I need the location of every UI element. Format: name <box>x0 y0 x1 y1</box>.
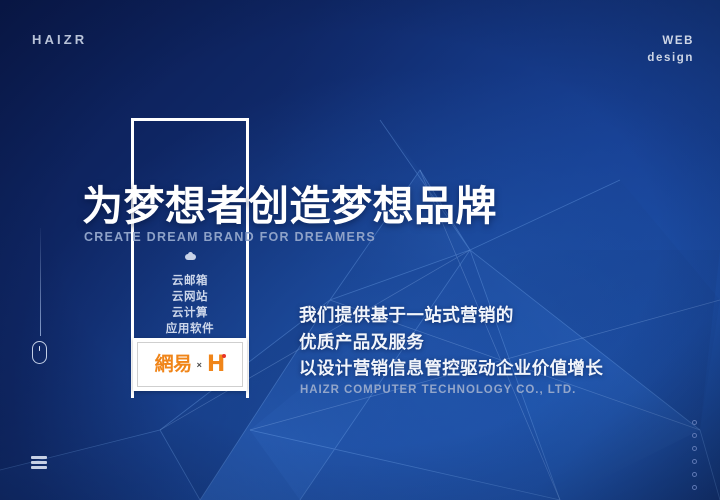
low-poly-background <box>0 0 720 500</box>
menu-item-cloud-computing[interactable]: 云计算 <box>140 304 240 320</box>
pagination-dot[interactable] <box>692 420 697 425</box>
red-dot-icon <box>222 354 226 358</box>
body-line-2: 优质产品及服务 <box>299 330 603 357</box>
haizr-mark: H <box>207 354 225 376</box>
hamburger-menu-icon[interactable] <box>31 456 47 469</box>
pagination-dot[interactable] <box>692 459 697 464</box>
pagination-dot[interactable] <box>692 446 697 451</box>
mouse-scroll-icon[interactable] <box>32 341 47 364</box>
frame-top-bar <box>131 118 249 121</box>
web-design-label: WEB design <box>647 33 694 66</box>
body-line-1: 我们提供基于一站式营销的 <box>299 303 603 330</box>
body-line-3: 以设计营销信息管控驱动企业价值增长 <box>299 356 603 383</box>
company-name-en: HAIZR COMPUTER TECHNOLOGY CO., LTD. <box>300 384 576 396</box>
web-design-line1: WEB <box>647 33 694 50</box>
page-subtitle: CREATE DREAM BRAND FOR DREAMERS <box>84 230 376 244</box>
hamburger-bar <box>31 461 47 464</box>
web-design-line2: design <box>647 50 694 67</box>
service-menu: 云邮箱 云网站 云计算 应用软件 <box>140 252 240 336</box>
menu-item-cloud-website[interactable]: 云网站 <box>140 288 240 304</box>
hero-slide: HAIZR WEB design 为梦想者创造梦想品牌 CREATE DREAM… <box>0 0 720 500</box>
page-title: 为梦想者创造梦想品牌 <box>82 186 497 227</box>
scroll-rail-line <box>40 228 41 336</box>
hamburger-bar <box>31 466 47 469</box>
site-logo[interactable]: HAIZR <box>32 32 87 47</box>
menu-item-application-software[interactable]: 应用软件 <box>140 320 240 336</box>
partner-logo-card[interactable]: 網易 × H <box>133 338 247 391</box>
pagination-dot[interactable] <box>692 472 697 477</box>
pagination-dot[interactable] <box>692 433 697 438</box>
cross-separator-icon: × <box>197 360 202 370</box>
pagination-dot[interactable] <box>692 485 697 490</box>
netease-logo: 網易 <box>155 355 192 374</box>
cloud-icon <box>185 252 196 261</box>
menu-item-cloud-mail[interactable]: 云邮箱 <box>140 272 240 288</box>
hamburger-bar <box>31 456 47 459</box>
slide-pagination[interactable] <box>692 420 697 490</box>
body-copy: 我们提供基于一站式营销的 优质产品及服务 以设计营销信息管控驱动企业价值增长 <box>299 303 603 383</box>
